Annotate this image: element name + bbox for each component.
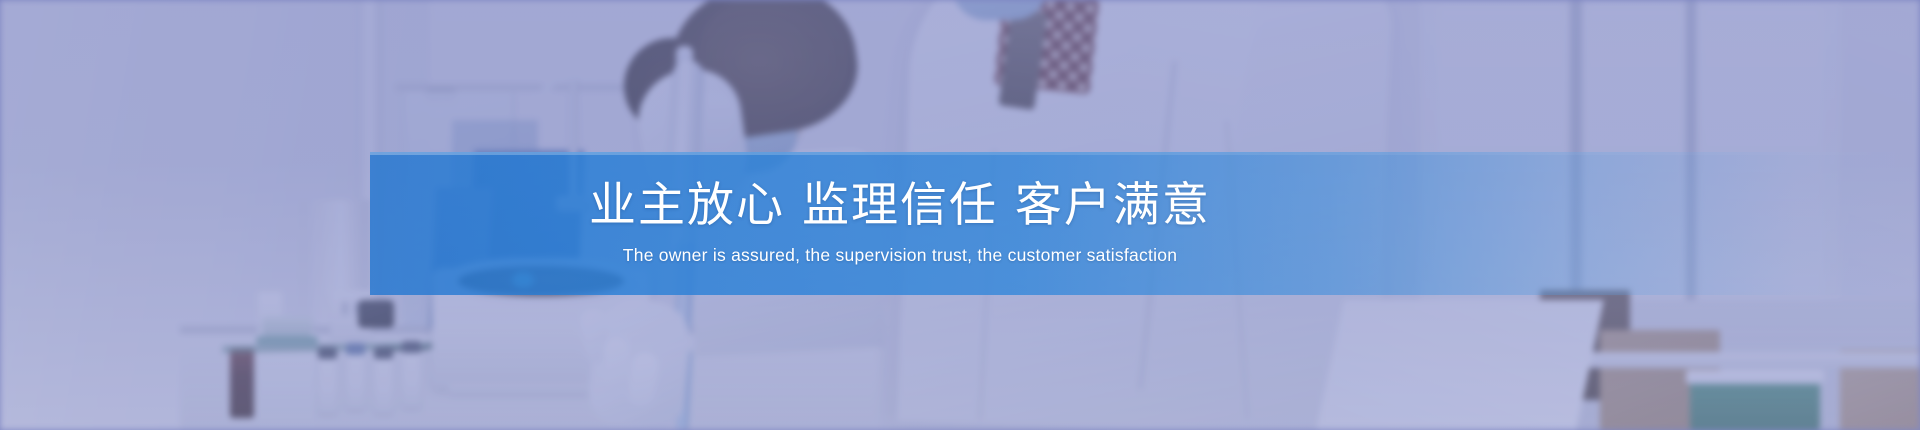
hero-banner: 业主放心 监理信任 客户满意 The owner is assured, the… (0, 0, 1920, 430)
hero-headline: 业主放心 监理信任 客户满意 (589, 181, 1211, 232)
hero-text-block: 业主放心 监理信任 客户满意 The owner is assured, the… (370, 152, 1430, 295)
hero-subline: The owner is assured, the supervision tr… (623, 245, 1177, 266)
